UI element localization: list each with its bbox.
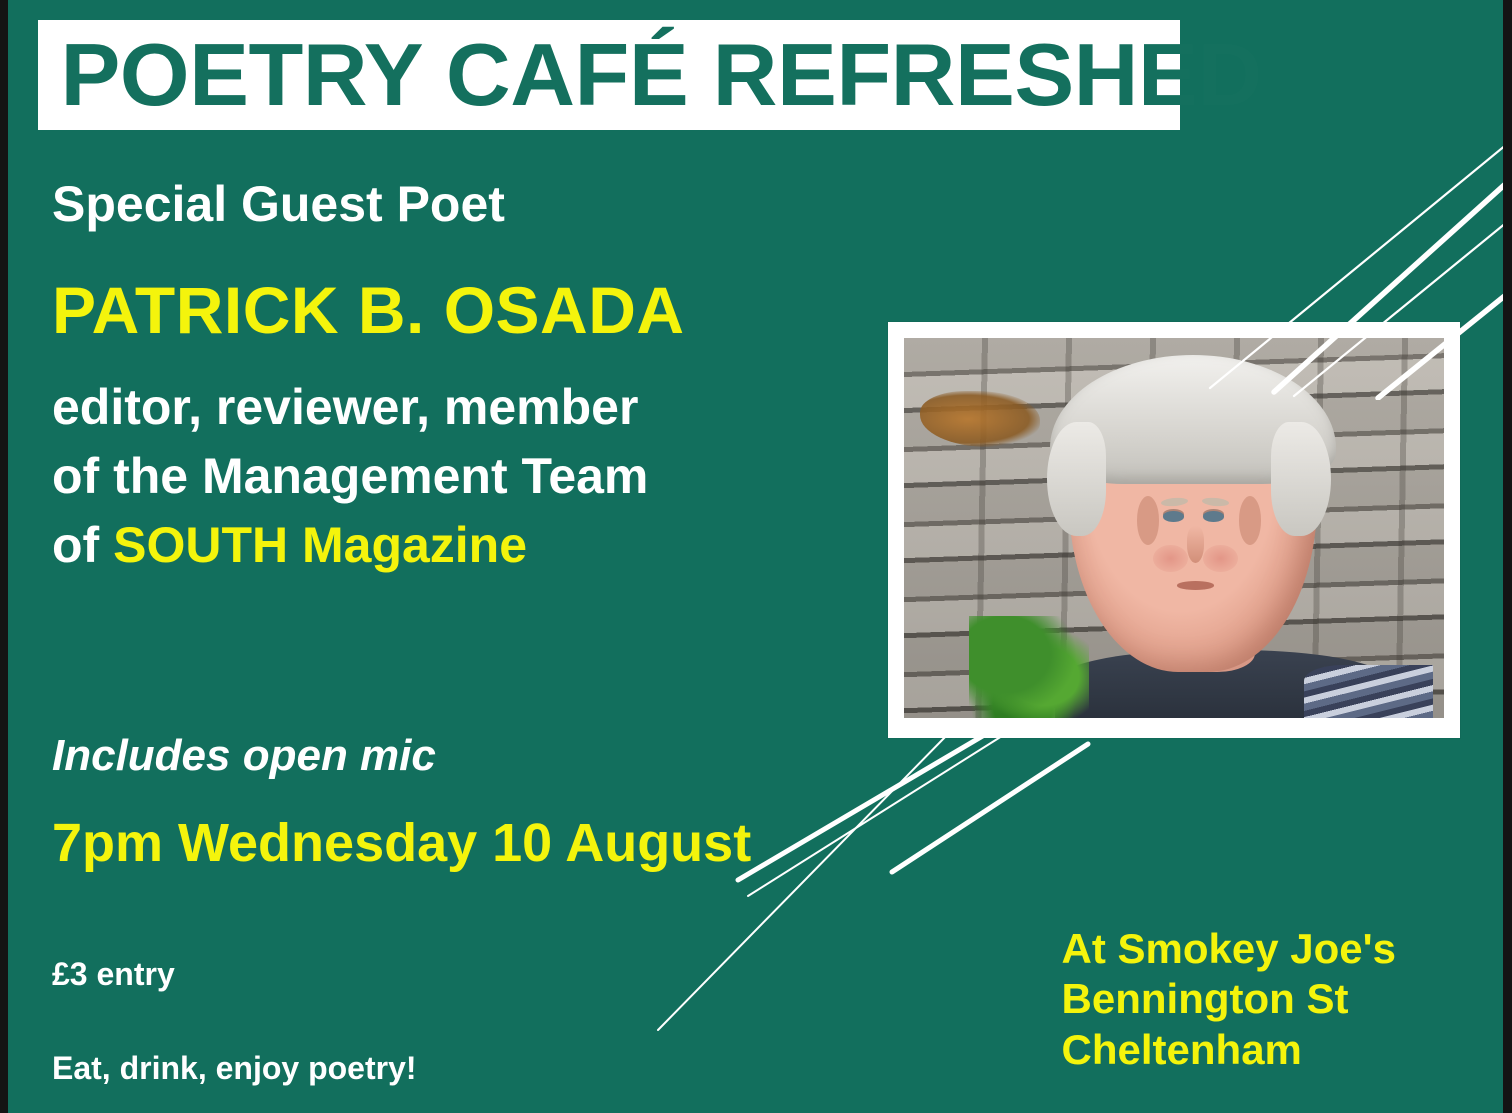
page-title: POETRY CAFÉ REFRESHED [38,31,1262,119]
poet-role-line-3: of SOUTH Magazine [52,511,872,580]
mouth [1177,581,1214,590]
left-eye [1163,511,1184,521]
south-magazine-highlight: SOUTH Magazine [113,517,527,573]
special-guest-label: Special Guest Poet [52,176,872,232]
right-eyebrow [1201,496,1229,506]
poet-role: editor, reviewer, member of the Manageme… [52,373,872,580]
foliage [969,616,1089,718]
right-ear [1239,496,1261,545]
left-edge-strip [0,0,8,1113]
venue-line-2: Bennington St [1062,974,1396,1024]
poet-role-line-1: editor, reviewer, member [52,373,872,442]
right-cheek [1203,545,1238,572]
poet-role-line-2: of the Management Team [52,442,872,511]
left-cheek [1153,545,1188,572]
venue-address: At Smokey Joe's Bennington St Cheltenham [1062,924,1396,1075]
hair-right-side [1271,422,1330,536]
poet-role-line-3-prefix: of [52,517,113,573]
poster-canvas: POETRY CAFÉ REFRESHED [0,0,1512,1113]
left-eyebrow [1160,496,1188,506]
poet-photo-frame [888,322,1460,738]
tagline: Eat, drink, enjoy poetry! [52,1051,872,1086]
venue-line-1: At Smokey Joe's [1062,924,1396,974]
poster-body-copy: Special Guest Poet PATRICK B. OSADA edit… [52,176,872,1086]
venue-line-3: Cheltenham [1062,1025,1396,1075]
nose [1187,526,1204,562]
poet-name: PATRICK B. OSADA [52,274,872,347]
left-ear [1137,496,1159,545]
striped-collar [1304,665,1434,718]
right-eye [1203,511,1224,521]
open-mic-note: Includes open mic [52,732,872,780]
entry-price: £3 entry [52,957,872,992]
event-datetime: 7pm Wednesday 10 August [52,814,872,873]
right-edge-strip [1503,0,1512,1113]
hair-left-side [1047,422,1106,536]
title-banner: POETRY CAFÉ REFRESHED [38,20,1180,130]
poet-portrait-photo [904,338,1444,718]
